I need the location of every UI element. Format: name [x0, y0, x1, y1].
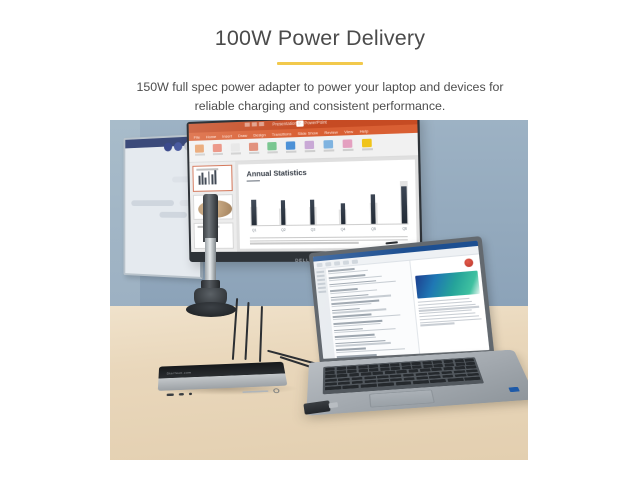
- mail-message-list[interactable]: [326, 261, 420, 358]
- chart-bar: [369, 182, 378, 224]
- page-root: 100W Power Delivery 150W full spec power…: [0, 0, 640, 480]
- external-monitor: P Presentation 1 - PowerPoint File Home …: [187, 120, 423, 262]
- chart-icon[interactable]: [285, 141, 297, 155]
- tab-help[interactable]: Help: [360, 128, 369, 134]
- keyboard-key[interactable]: [464, 377, 480, 381]
- forward-icon[interactable]: [334, 261, 340, 266]
- chat-bubble: [159, 212, 186, 218]
- title-accent-rule: [277, 62, 363, 65]
- keyboard-key[interactable]: [430, 379, 446, 383]
- annual-statistics-chart: Q1Q2Q3Q4Q5Q6: [250, 183, 409, 231]
- play-icon[interactable]: [194, 144, 205, 157]
- tab-design[interactable]: Design: [253, 132, 265, 138]
- tab-draw[interactable]: Draw: [238, 132, 247, 137]
- usb-a-port-icon[interactable]: [167, 393, 174, 396]
- text-box-icon[interactable]: [230, 143, 241, 157]
- audio-jack-icon[interactable]: [189, 393, 192, 396]
- monitor-arm-foot: [186, 302, 236, 317]
- chart-bar: [250, 185, 258, 226]
- monitor-screen: P Presentation 1 - PowerPoint File Home …: [189, 120, 421, 252]
- tab-insert[interactable]: Insert: [222, 133, 232, 138]
- product-photo: P Presentation 1 - PowerPoint File Home …: [110, 120, 528, 460]
- chart-bar: [400, 181, 409, 224]
- avatar: [174, 142, 182, 151]
- page-title: 100W Power Delivery: [0, 26, 640, 52]
- keyboard-key[interactable]: [444, 363, 454, 366]
- tab-home[interactable]: Home: [206, 133, 216, 138]
- slide-canvas[interactable]: Annual Statistics Q1Q2Q3Q4Q5Q6: [238, 160, 417, 249]
- slide-heading-rule: [247, 180, 260, 182]
- monitor-arm-pole: [205, 238, 216, 282]
- powerpoint-workspace: Annual Statistics Q1Q2Q3Q4Q5Q6: [189, 156, 420, 252]
- chart-x-tick: Q4: [339, 227, 347, 231]
- webcam-icon: [385, 241, 398, 244]
- archive-icon[interactable]: [352, 259, 358, 264]
- chart-bars: [250, 181, 409, 225]
- keyboard-key[interactable]: [378, 382, 394, 386]
- tab-transitions[interactable]: Transitions: [272, 131, 292, 137]
- email-body-text: [418, 297, 483, 326]
- dock-brand-label: StarTech.com: [166, 371, 191, 375]
- monitor-bezel: P Presentation 1 - PowerPoint File Home …: [187, 120, 423, 262]
- picture-icon[interactable]: [266, 142, 278, 156]
- minimize-icon[interactable]: [244, 123, 249, 127]
- chart-bar: [338, 183, 346, 225]
- tab-file[interactable]: File: [194, 134, 200, 139]
- keyboard-key[interactable]: [395, 381, 411, 385]
- smartart-icon[interactable]: [322, 140, 334, 154]
- maximize-icon[interactable]: [251, 122, 256, 126]
- mail-body: [314, 254, 489, 358]
- keyboard-key[interactable]: [343, 385, 359, 389]
- laptop-screen: [313, 241, 490, 359]
- chart-x-tick: Q5: [370, 227, 378, 231]
- thumbnail-mini-chart: [198, 170, 216, 185]
- monitor-arm-upper: [203, 194, 218, 242]
- keyboard-key[interactable]: [447, 378, 463, 382]
- slide-footnote: [250, 236, 408, 245]
- link-icon[interactable]: [342, 139, 354, 153]
- keyboard-key[interactable]: [325, 386, 341, 390]
- new-mail-icon[interactable]: [316, 262, 322, 267]
- intel-badge: [508, 387, 519, 392]
- grid-icon[interactable]: [212, 144, 223, 157]
- email-hero-image: [415, 271, 480, 299]
- mail-reading-pane[interactable]: [410, 254, 489, 353]
- chart-bar: [308, 183, 316, 225]
- table-icon[interactable]: [303, 141, 315, 155]
- chart-bar: [279, 184, 287, 225]
- shapes-icon[interactable]: [248, 143, 259, 157]
- tab-slide-show[interactable]: Slide Show: [298, 130, 319, 136]
- slide-thumbnail-1[interactable]: [192, 165, 232, 192]
- keyboard-key[interactable]: [413, 380, 429, 384]
- keyboard-key[interactable]: [434, 364, 444, 367]
- page-subtitle: 150W full spec power adapter to power yo…: [0, 78, 640, 116]
- power-icon[interactable]: [273, 388, 280, 393]
- delete-icon[interactable]: [343, 260, 349, 265]
- reply-icon[interactable]: [325, 261, 331, 266]
- chart-x-tick: Q1: [251, 228, 258, 232]
- chart-x-tick: Q3: [309, 228, 316, 232]
- chart-x-tick: Q2: [280, 228, 287, 232]
- close-icon[interactable]: [258, 122, 263, 126]
- keyboard-key[interactable]: [360, 384, 376, 388]
- sender-logo-icon: [464, 258, 474, 267]
- chart-x-tick: Q6: [401, 227, 409, 231]
- color-swatch-icon[interactable]: [361, 139, 373, 153]
- slide-heading: Annual Statistics: [246, 165, 415, 179]
- tab-review[interactable]: Review: [324, 129, 338, 135]
- laptop-keyboard[interactable]: [323, 357, 484, 394]
- laptop-lid: [309, 236, 495, 365]
- chat-bubble: [131, 200, 174, 206]
- header: 100W Power Delivery 150W full spec power…: [0, 0, 640, 115]
- monitor-brand-logo: DELL: [295, 258, 310, 263]
- laptop-trackpad[interactable]: [369, 390, 435, 408]
- usb-c-port-icon[interactable]: [179, 393, 184, 395]
- tab-view[interactable]: View: [344, 128, 353, 134]
- avatar: [164, 142, 172, 151]
- laptop: [310, 252, 520, 452]
- chart-x-labels: Q1Q2Q3Q4Q5Q6: [251, 227, 409, 233]
